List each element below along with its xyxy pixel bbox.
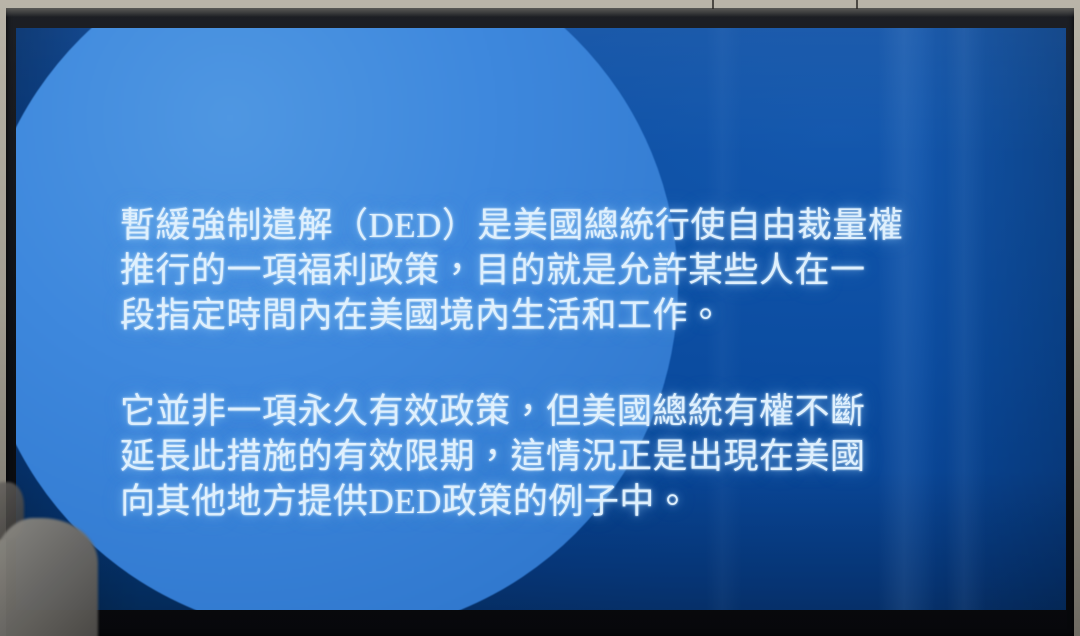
- bezel-top-sheen: [6, 8, 1074, 17]
- slide-paragraph-1: 暫緩強制遣解（DED）是美國總統行使自由裁量權 推行的一項福利政策，目的就是允許…: [120, 203, 950, 338]
- ceiling-wire: [712, 0, 714, 9]
- slide-paragraph-2: 它並非一項永久有效政策，但美國總統有權不斷 延長此措施的有效限期，這情況正是出現…: [120, 389, 950, 524]
- ceiling-wire: [856, 0, 858, 9]
- slide-text-block: 暫緩強制遣解（DED）是美國總統行使自由裁量權 推行的一項福利政策，目的就是允許…: [120, 168, 950, 559]
- screen-surface: 暫緩強制遣解（DED）是美國總統行使自由裁量權 推行的一項福利政策，目的就是允許…: [16, 28, 1066, 610]
- foreground-seat-back: [0, 518, 98, 636]
- photo-of-presentation-screen: 暫緩強制遣解（DED）是美國總統行使自由裁量權 推行的一項福利政策，目的就是允許…: [0, 0, 1080, 636]
